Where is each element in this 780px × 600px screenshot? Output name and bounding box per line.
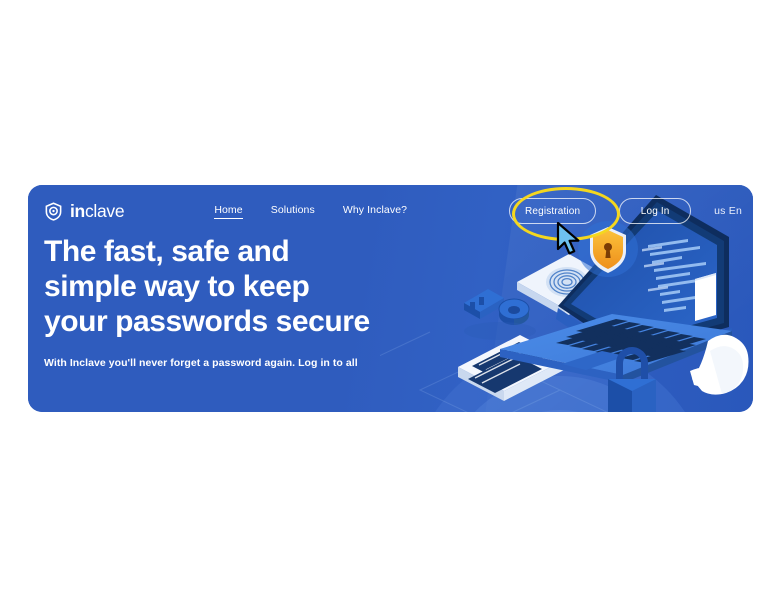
- brand-name-bold: in: [70, 201, 85, 221]
- hero-copy: The fast, safe and simple way to keep yo…: [44, 234, 374, 370]
- key-illustration: [464, 289, 536, 340]
- login-button[interactable]: Log In: [619, 198, 691, 224]
- hero-subtext: With Inclave you'll never forget a passw…: [44, 356, 384, 370]
- hero-banner: inclave Home Solutions Why Inclave? Regi…: [28, 185, 753, 412]
- brand-name: inclave: [70, 201, 124, 222]
- top-navigation-bar: inclave Home Solutions Why Inclave? Regi…: [28, 185, 753, 237]
- document-icon: [695, 273, 716, 321]
- hero-headline: The fast, safe and simple way to keep yo…: [44, 234, 374, 339]
- nav-item-solutions[interactable]: Solutions: [271, 204, 315, 218]
- nav-links: Home Solutions Why Inclave?: [214, 204, 407, 219]
- registration-button[interactable]: Registration: [509, 198, 596, 224]
- nav-item-why-inclave[interactable]: Why Inclave?: [343, 204, 407, 218]
- brand-logo[interactable]: inclave: [44, 201, 124, 222]
- shield-logo-icon: [44, 202, 63, 221]
- brand-name-rest: clave: [85, 201, 124, 221]
- language-selector[interactable]: us En: [714, 205, 742, 217]
- nav-item-home[interactable]: Home: [214, 204, 242, 219]
- nav-actions: Registration Log In us En: [509, 198, 742, 224]
